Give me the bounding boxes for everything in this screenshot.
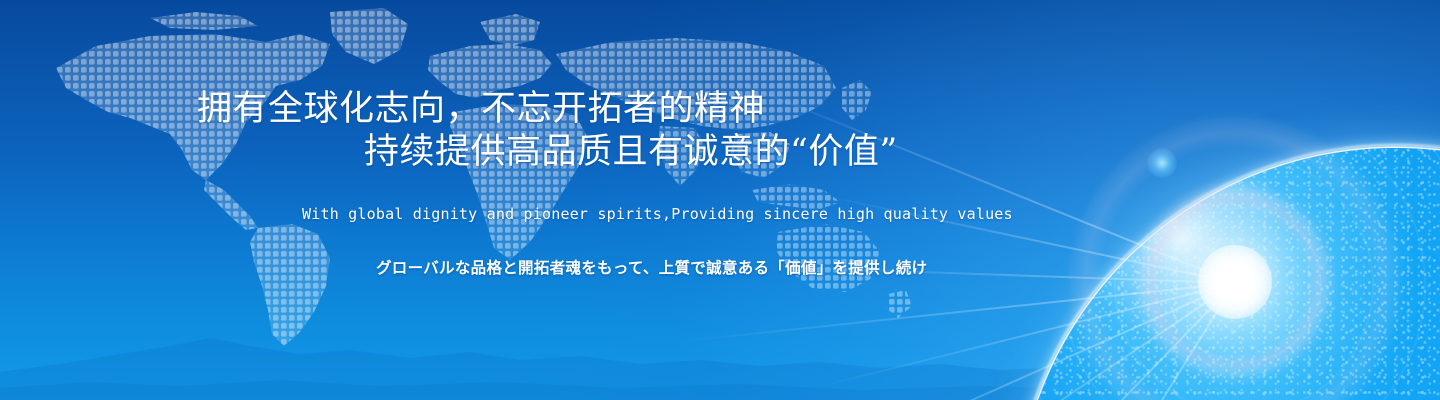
planet-rim-highlight [1012, 144, 1440, 400]
flare-core-glow [1198, 245, 1272, 319]
lens-flare-dot-icon [1147, 148, 1177, 178]
subheadline-japanese: グローバルな品格と開拓者魂をもって、上質で誠意ある「価値」を提供し続け [376, 261, 927, 277]
banner-copy-block: 拥有全球化志向，不忘开拓者的精神 持续提供高品质且有诚意的“价值” With g… [0, 0, 1000, 400]
subheadline-english: With global dignity and pioneer spirits,… [302, 207, 1013, 222]
background-glow-wash [0, 0, 1440, 400]
earth-planet-graphic [920, 0, 1440, 400]
dotted-world-map-graphic [0, 0, 920, 354]
flare-mid-glow [1140, 187, 1330, 377]
flare-halo-ring [1109, 156, 1361, 400]
corporate-philosophy-banner: 拥有全球化志向，不忘开拓者的精神 持续提供高品质且有诚意的“价值” With g… [0, 0, 1440, 400]
flare-outer-halo-ring [1020, 67, 1440, 400]
headline-line-1: 拥有全球化志向，不忘开拓者的精神 [197, 92, 765, 127]
flare-outer-glow [1070, 117, 1400, 400]
planet-sphere [1016, 148, 1440, 400]
mountain-silhouette-graphic [0, 280, 1440, 400]
headline-line-2: 持续提供高品质且有诚意的“价值” [364, 135, 898, 170]
